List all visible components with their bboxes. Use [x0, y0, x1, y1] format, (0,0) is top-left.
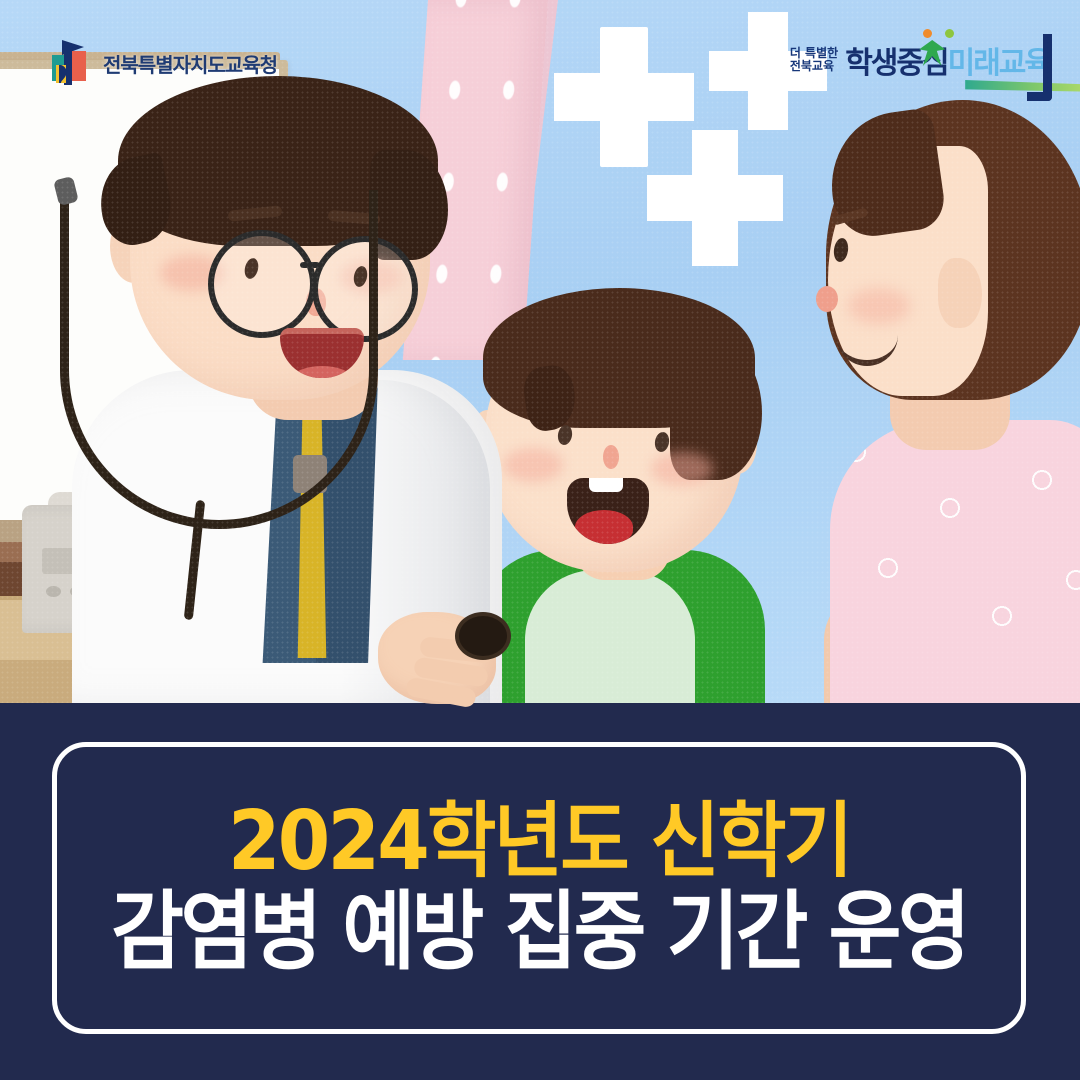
- education-office-emblem-icon: [48, 38, 94, 88]
- medical-cross-icon: [600, 27, 648, 167]
- title-line-2: 감염병 예방 집중 기간 운영: [111, 888, 967, 977]
- student-centered-future-education-logo: 더 특별한 전북교육 학생중심미래교육: [790, 38, 1050, 82]
- title-band: 2024학년도 신학기 감염병 예방 집중 기간 운영: [0, 703, 1080, 1080]
- stethoscope-chestpiece: [455, 612, 511, 660]
- title-box: 2024학년도 신학기 감염병 예방 집중 기간 운영: [52, 742, 1026, 1034]
- mother-nose: [816, 286, 838, 312]
- child-tongue: [575, 510, 633, 544]
- mother-cheek: [848, 288, 910, 324]
- logo-slogan: 더 특별한 전북교육: [790, 47, 838, 73]
- medical-cross-icon: [692, 130, 738, 266]
- child-cheek-right: [651, 452, 713, 486]
- mother-shirt: [830, 420, 1080, 710]
- education-office-name: 전북특별자치도교육청: [103, 49, 277, 78]
- mother-ear: [938, 258, 982, 328]
- child-nose: [603, 445, 619, 469]
- poster-root: 전북특별자치도교육청 더 특별한 전북교육 학생중심미래교육 2024학년도 신…: [0, 0, 1080, 1080]
- logo-wordmark: 학생중심미래교육: [845, 38, 1050, 82]
- logo-slogan-line2: 전북교육: [790, 60, 838, 73]
- child-cheek-left: [503, 448, 563, 482]
- stethoscope-tube: [60, 190, 378, 529]
- medical-cross-icon: [748, 12, 788, 130]
- title-line-1: 2024학년도 신학기: [228, 799, 850, 884]
- mother-figure: [790, 90, 1080, 710]
- logo-bracket-icon: [1027, 34, 1052, 101]
- child-shirt-front: [525, 570, 695, 710]
- jeonbuk-office-of-education-logo: 전북특별자치도교육청: [48, 38, 277, 88]
- illustration-scene: [0, 0, 1080, 710]
- child-tooth: [589, 478, 623, 492]
